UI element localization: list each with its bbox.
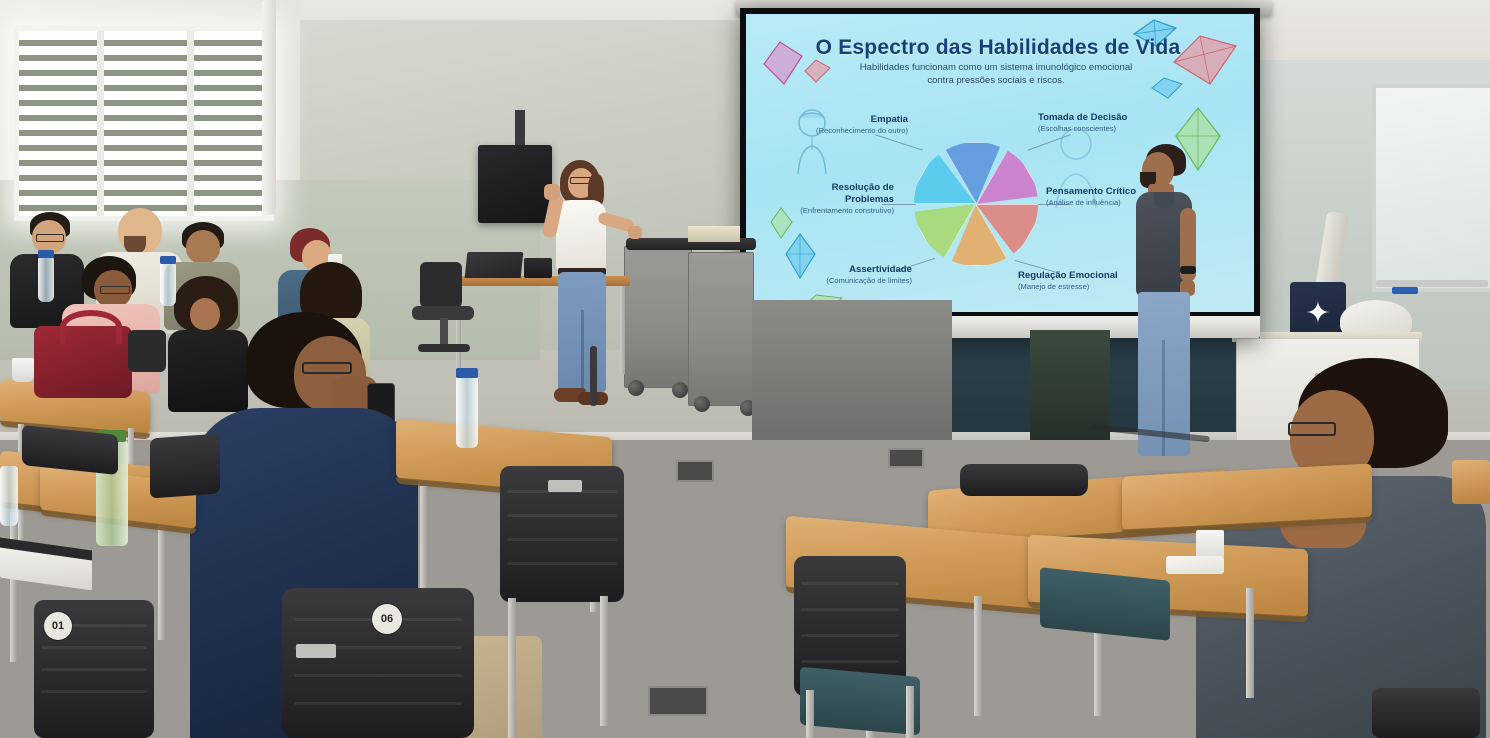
leader-line bbox=[875, 134, 923, 150]
glasses-icon bbox=[36, 234, 64, 242]
chair-seat bbox=[800, 667, 920, 735]
head bbox=[186, 230, 220, 264]
jeans-seam bbox=[1162, 340, 1165, 456]
glasses-icon bbox=[100, 286, 130, 294]
monitor-mount-arm bbox=[515, 110, 525, 150]
slide-label-empatia: Empatia (Reconhecimento do outro) bbox=[808, 114, 908, 135]
desk-leg bbox=[10, 512, 17, 662]
chair[interactable] bbox=[150, 434, 220, 499]
life-skills-wheel bbox=[914, 142, 1038, 266]
bag-logo-icon: ✦ bbox=[1302, 298, 1334, 330]
chair-backrest bbox=[420, 262, 462, 308]
bag-strap bbox=[60, 310, 122, 344]
hand bbox=[628, 226, 642, 239]
slide-title: O Espectro das Habilidades de Vida bbox=[798, 36, 1198, 60]
desk-leg bbox=[158, 520, 165, 640]
label-caption: (Reconhecimento do outro) bbox=[808, 126, 908, 135]
chair-label-sticker bbox=[548, 480, 582, 492]
floor-outlet-box bbox=[676, 460, 714, 482]
napkin bbox=[1166, 556, 1224, 574]
window-mullion bbox=[97, 31, 104, 216]
desk-leg bbox=[974, 596, 982, 716]
desk-leg bbox=[620, 286, 625, 374]
av-cabinet bbox=[688, 252, 754, 406]
presenter-woman bbox=[540, 160, 618, 420]
chair-post bbox=[440, 318, 448, 346]
bottle-cap bbox=[38, 250, 54, 258]
chair[interactable] bbox=[1372, 688, 1480, 738]
glasses-icon bbox=[302, 362, 352, 374]
whiteboard-tray bbox=[1376, 280, 1488, 287]
chair-leg bbox=[508, 598, 516, 738]
paper-cup bbox=[12, 358, 34, 382]
label-title: Tomada de Decisão bbox=[1038, 112, 1168, 124]
chair[interactable] bbox=[960, 464, 1088, 496]
equipment-cart bbox=[1030, 330, 1110, 440]
caster-wheel bbox=[672, 382, 688, 398]
mic-stand bbox=[590, 346, 597, 406]
paper-stack bbox=[688, 226, 740, 242]
slide-label-assertividade: Assertividade (Comunicação de limites) bbox=[802, 264, 912, 285]
fist bbox=[544, 184, 560, 200]
label-caption: (Comunicação de limites) bbox=[802, 276, 912, 285]
glasses-icon bbox=[1288, 422, 1336, 436]
white-blouse bbox=[556, 200, 606, 272]
floor-outlet-box bbox=[888, 448, 924, 468]
desk-leg bbox=[1246, 588, 1254, 698]
slide-subtitle: Habilidades funcionam como um sistema im… bbox=[816, 62, 1176, 88]
water-bottle bbox=[38, 256, 54, 302]
chair-leg bbox=[906, 686, 914, 738]
window-mullion bbox=[187, 31, 194, 216]
water-bottle bbox=[0, 466, 18, 526]
student-desk bbox=[1452, 460, 1490, 504]
slide-label-resolucao-de-problemas: Resolução de Problemas (Enfrentamento co… bbox=[790, 182, 894, 215]
av-cabinet bbox=[624, 246, 692, 388]
black-pouch bbox=[128, 330, 166, 372]
label-title: Assertividade bbox=[802, 264, 912, 276]
bottle-cap bbox=[456, 368, 478, 378]
chair-leg bbox=[806, 690, 814, 738]
slide-subtitle-line1: Habilidades funcionam como um sistema im… bbox=[816, 62, 1176, 75]
slide-label-tomada-de-decisao: Tomada de Decisão (Escolhas conscientes) bbox=[1038, 112, 1168, 133]
slide-subtitle-line2: contra pressões sociais e riscos. bbox=[816, 75, 1176, 88]
caster-wheel bbox=[694, 396, 710, 412]
chair-number-badge: 01 bbox=[44, 612, 72, 640]
chair-label-sticker bbox=[296, 644, 336, 658]
av-cabinet bbox=[752, 300, 952, 440]
classroom-photo: ✦ bbox=[0, 0, 1490, 738]
water-bottle bbox=[160, 262, 176, 306]
label-caption: (Enfrentamento construtivo) bbox=[790, 206, 894, 215]
water-bottle bbox=[456, 376, 478, 448]
window-frame-right bbox=[262, 0, 276, 216]
floor-outlet-box bbox=[648, 686, 708, 716]
caster-wheel bbox=[628, 380, 644, 396]
jeans-seam bbox=[581, 310, 584, 392]
smartwatch bbox=[1180, 266, 1196, 274]
label-caption: (Escolhas conscientes) bbox=[1038, 124, 1168, 133]
label-title: Empatia bbox=[808, 114, 908, 126]
whiteboard bbox=[1372, 84, 1490, 292]
whiteboard-marker bbox=[1392, 287, 1418, 294]
chair-leg bbox=[600, 596, 608, 726]
label-title: Resolução de Problemas bbox=[790, 182, 894, 206]
bottle-cap bbox=[160, 256, 176, 264]
window-louvers bbox=[19, 31, 269, 216]
louvered-window bbox=[14, 26, 274, 221]
chair-number-badge: 06 bbox=[372, 604, 402, 634]
polo-collar bbox=[1154, 192, 1174, 208]
